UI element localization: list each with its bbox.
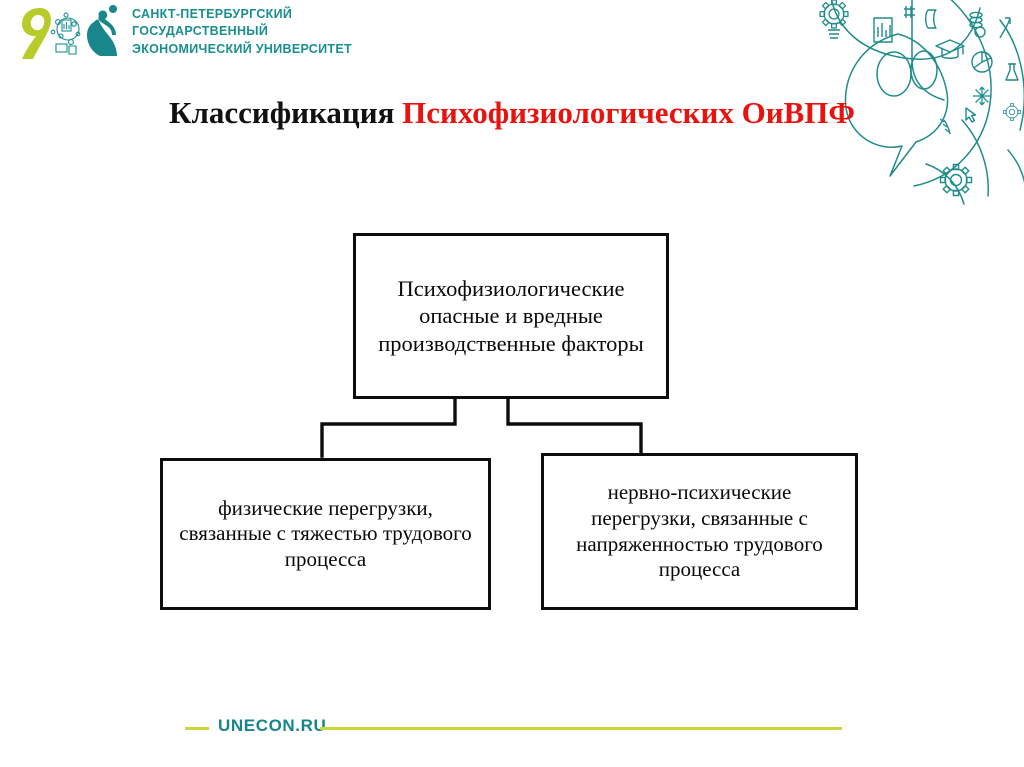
footer-rule-left xyxy=(185,727,209,730)
footer-rule-right xyxy=(320,727,842,730)
diagram-node-root: Психофизиологические опасные и вредные п… xyxy=(353,233,669,399)
diagram-node-physical-label: физические перегрузки, связанные с тяжес… xyxy=(175,496,476,573)
slide-canvas: Санкт-Петербургский Государственный Экон… xyxy=(0,0,1024,767)
footer: UNECON.RU xyxy=(0,716,1024,740)
diagram-node-physical: физические перегрузки, связанные с тяжес… xyxy=(160,458,491,610)
diagram-node-neuropsychic-label: нервно-психические перегрузки, связанные… xyxy=(554,480,845,582)
classification-diagram: Психофизиологические опасные и вредные п… xyxy=(0,0,1024,767)
diagram-node-neuropsychic: нервно-психические перегрузки, связанные… xyxy=(541,453,858,610)
diagram-node-root-label: Психофизиологические опасные и вредные п… xyxy=(366,275,656,357)
footer-site-label: UNECON.RU xyxy=(218,716,326,736)
